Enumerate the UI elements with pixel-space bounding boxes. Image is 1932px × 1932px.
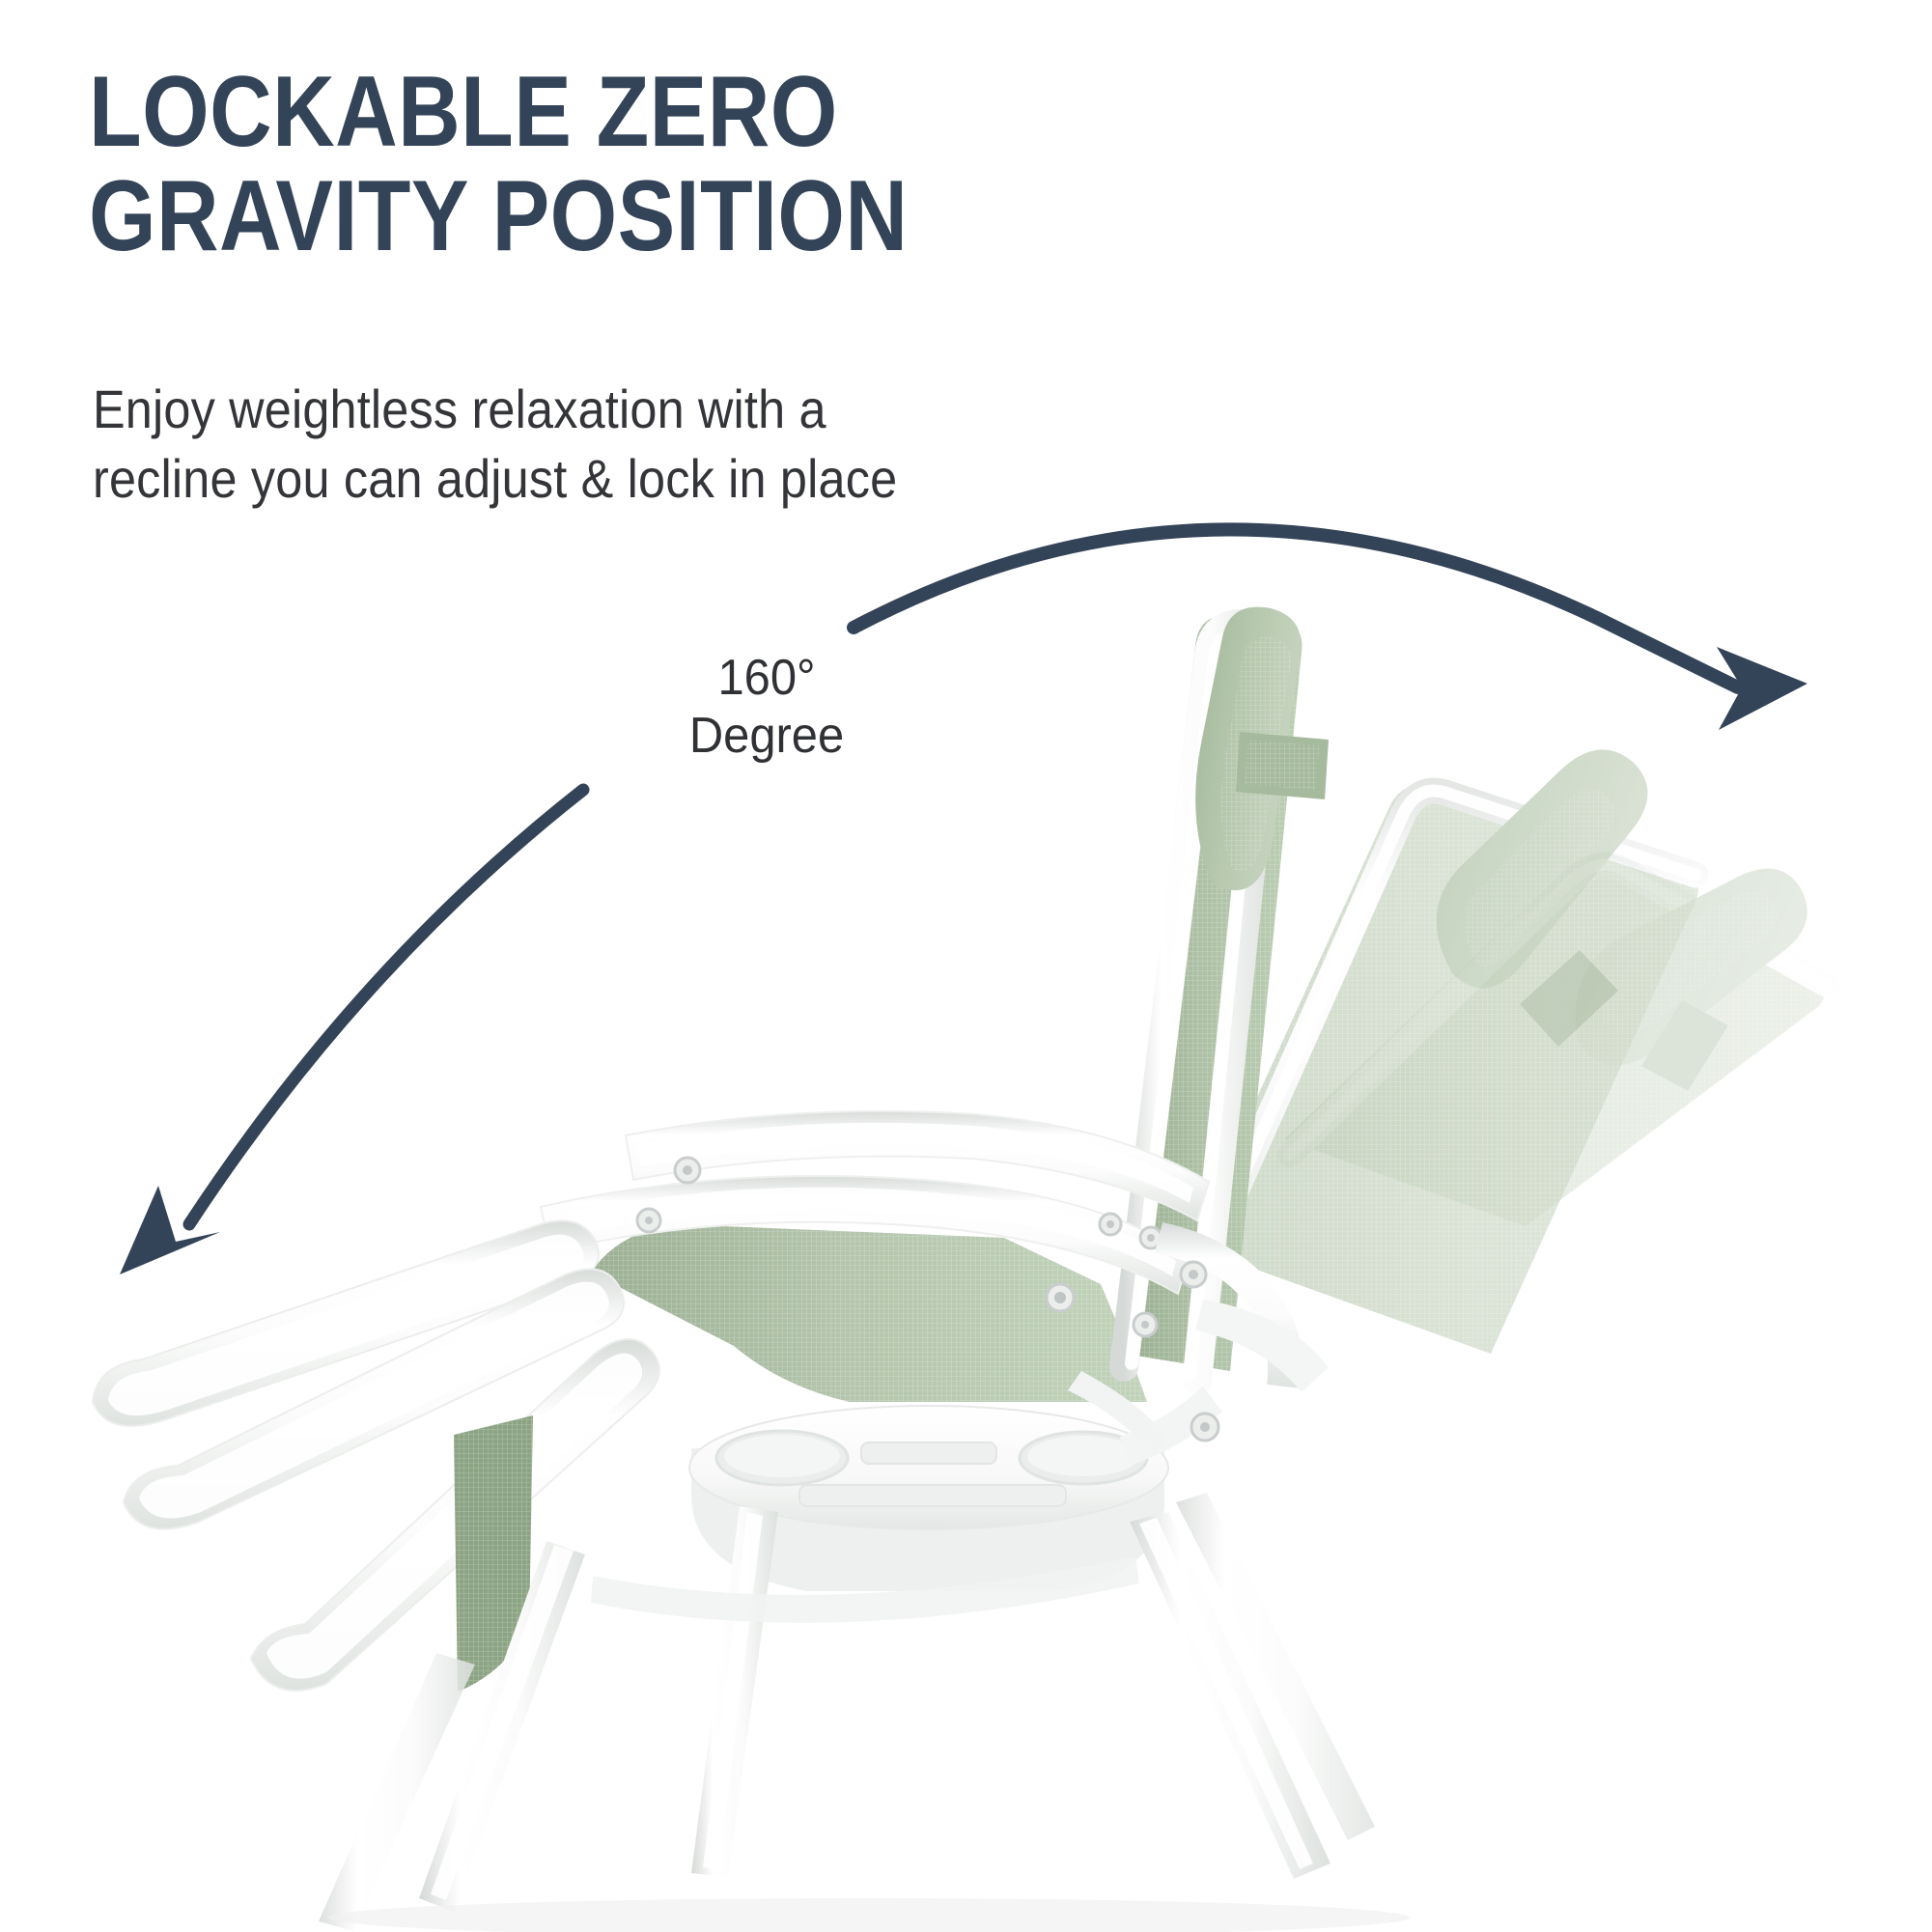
recline-support-arms	[1155, 1222, 1329, 1441]
chair-position-full-recline	[1284, 854, 1827, 1226]
headrest-pillow-full-recline	[1576, 869, 1807, 1091]
headrest-pillow-upright	[1195, 607, 1329, 891]
recline-range-arc	[0, 0, 1932, 1932]
angle-annotation: 160° Degree	[649, 649, 884, 766]
arrowhead-left	[120, 1186, 220, 1274]
arrowhead-right	[1717, 647, 1807, 730]
chair-position-upright	[93, 607, 1375, 1931]
chair-position-mid-recline	[1190, 749, 1698, 1354]
armrest	[541, 1111, 1209, 1336]
cup-holder-tray	[689, 1386, 1222, 1591]
page-title: LOCKABLE ZERO GRAVITY POSITION	[89, 60, 1002, 268]
folding-legs	[319, 1493, 1375, 1931]
angle-value: 160°	[649, 649, 884, 707]
headrest-pillow-mid-recline	[1437, 749, 1648, 1047]
infographic-canvas: LOCKABLE ZERO GRAVITY POSITION Enjoy wei…	[0, 0, 1932, 1932]
footrest-extension	[93, 1220, 659, 1692]
angle-unit: Degree	[649, 707, 884, 765]
page-subtitle: Enjoy weightless relaxation with a recli…	[93, 375, 1118, 513]
product-illustration	[0, 0, 1932, 1932]
